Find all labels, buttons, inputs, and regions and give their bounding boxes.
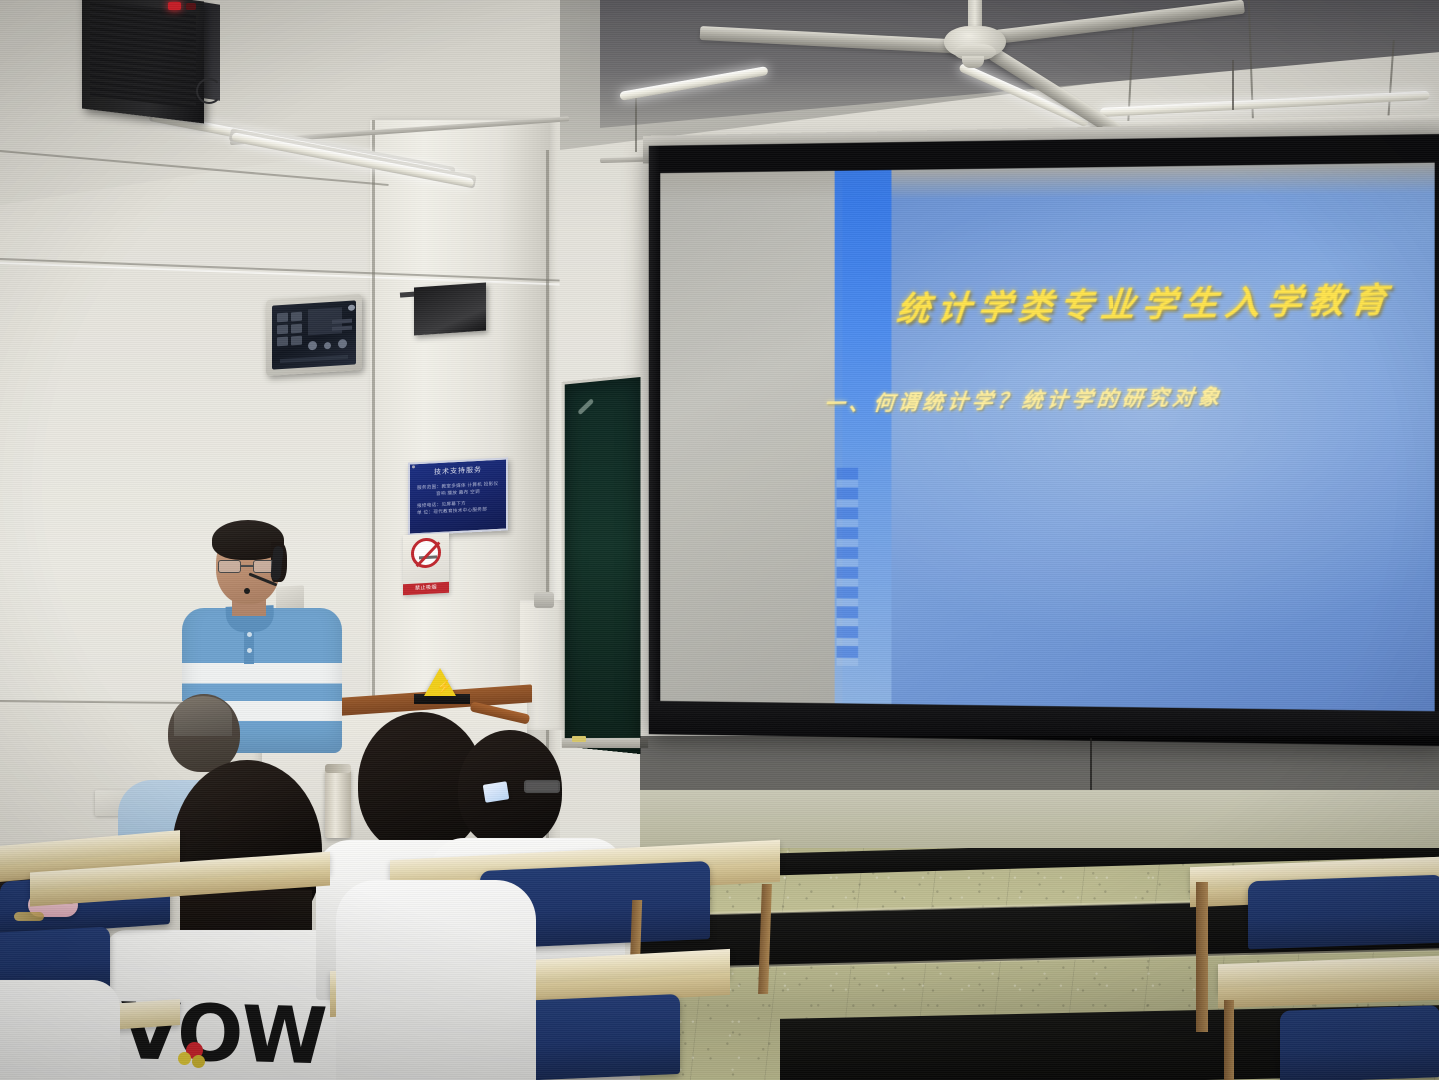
- panel-button-2[interactable]: [291, 312, 302, 322]
- glasses-bridge: [241, 565, 253, 567]
- panel-bottom-strip: [280, 355, 348, 363]
- speaker-status-led: [186, 3, 196, 10]
- cabinet-handle[interactable]: [534, 592, 554, 608]
- floor-strip-upper: [640, 790, 1439, 848]
- projection-screen: 统计学类专业学生入学教育 一、何谓统计学？统计学的研究对象: [649, 134, 1439, 746]
- no-smoking-icon: [411, 537, 441, 569]
- lecturer-placket: [244, 624, 254, 664]
- desk-leg-right-1: [1196, 882, 1208, 1032]
- panel-button-3[interactable]: [277, 325, 288, 335]
- technical-support-sign: 技术支持服务 服务范围：教室多媒体 计算机 投影仪 音响 播放 幕布 空调 报修…: [408, 457, 508, 535]
- speaker-grill: [90, 0, 196, 109]
- panel-button-5[interactable]: [277, 337, 288, 347]
- sign-pin: [412, 465, 415, 468]
- control-panel-screen[interactable]: [272, 300, 356, 369]
- headset-mic-capsule: [244, 588, 250, 594]
- audience-body: [0, 980, 120, 1080]
- screen-left-edge: [649, 146, 661, 735]
- speaker-cabinet: [82, 0, 204, 123]
- hazard-bolt-glyph: ⚡: [436, 680, 452, 693]
- slide-title: 统计学类专业学生入学教育: [861, 271, 1431, 331]
- audience-member-bottom-left: [0, 980, 120, 1080]
- keychain: [14, 912, 44, 921]
- chalk-smudge: [577, 398, 594, 415]
- lecturer-button-2: [247, 648, 252, 653]
- panel-button-6[interactable]: [291, 336, 302, 346]
- speaker-cable-coil: [196, 78, 222, 104]
- panel-indicator-1: [332, 319, 352, 324]
- bench-right-1: [1248, 875, 1439, 950]
- audience-body: [336, 880, 536, 1080]
- screen-surface: 统计学类专业学生入学教育 一、何谓统计学？统计学的研究对象: [660, 163, 1434, 712]
- av-control-panel[interactable]: [266, 294, 362, 376]
- no-smoking-sign: 禁止吸烟: [403, 533, 449, 595]
- panel-knob-1[interactable]: [308, 341, 317, 351]
- lecturer-button-1: [247, 632, 252, 637]
- wall-speaker-small: [414, 282, 486, 335]
- support-sign-heading: 技术支持服务: [417, 466, 499, 479]
- screen-washout-top: [660, 163, 1434, 203]
- hanging-wire-1: [635, 92, 637, 152]
- hair-bead-yellow-1: [178, 1052, 191, 1065]
- panel-indicator-2: [332, 326, 352, 331]
- desk-leg-right-2: [1224, 1000, 1234, 1080]
- smartphone[interactable]: [483, 781, 510, 803]
- classroom-photo-scene: 技术支持服务 服务范围：教室多媒体 计算机 投影仪 音响 播放 幕布 空调 报修…: [0, 0, 1439, 1080]
- panel-button-1[interactable]: [277, 313, 288, 323]
- screen-unlit-area: [660, 171, 842, 704]
- audience-member-hoodie: [336, 880, 536, 1080]
- fan-light-kit: [962, 56, 984, 68]
- eyeglasses-icon: [218, 560, 276, 573]
- light-pendant-1: [1232, 60, 1234, 110]
- slide-accent-ticks: [837, 468, 859, 666]
- speaker-power-led: [168, 2, 181, 10]
- panel-knob-3[interactable]: [338, 339, 347, 349]
- slide-subtitle: 一、何谓统计学？统计学的研究对象: [823, 377, 1430, 418]
- glasses-lens-left: [218, 560, 241, 573]
- bench-right-2: [1280, 1005, 1439, 1080]
- panel-button-4[interactable]: [291, 324, 302, 334]
- hair-accessory: [178, 1042, 208, 1068]
- panel-led: [348, 304, 355, 310]
- audience-gray-hair: [174, 696, 232, 736]
- green-chalkboard: [561, 374, 640, 754]
- panel-knob-2[interactable]: [324, 342, 331, 349]
- eyeglasses-icon: [524, 780, 560, 793]
- cigarette-glyph: [419, 555, 437, 559]
- hair-bead-yellow-2: [192, 1055, 205, 1068]
